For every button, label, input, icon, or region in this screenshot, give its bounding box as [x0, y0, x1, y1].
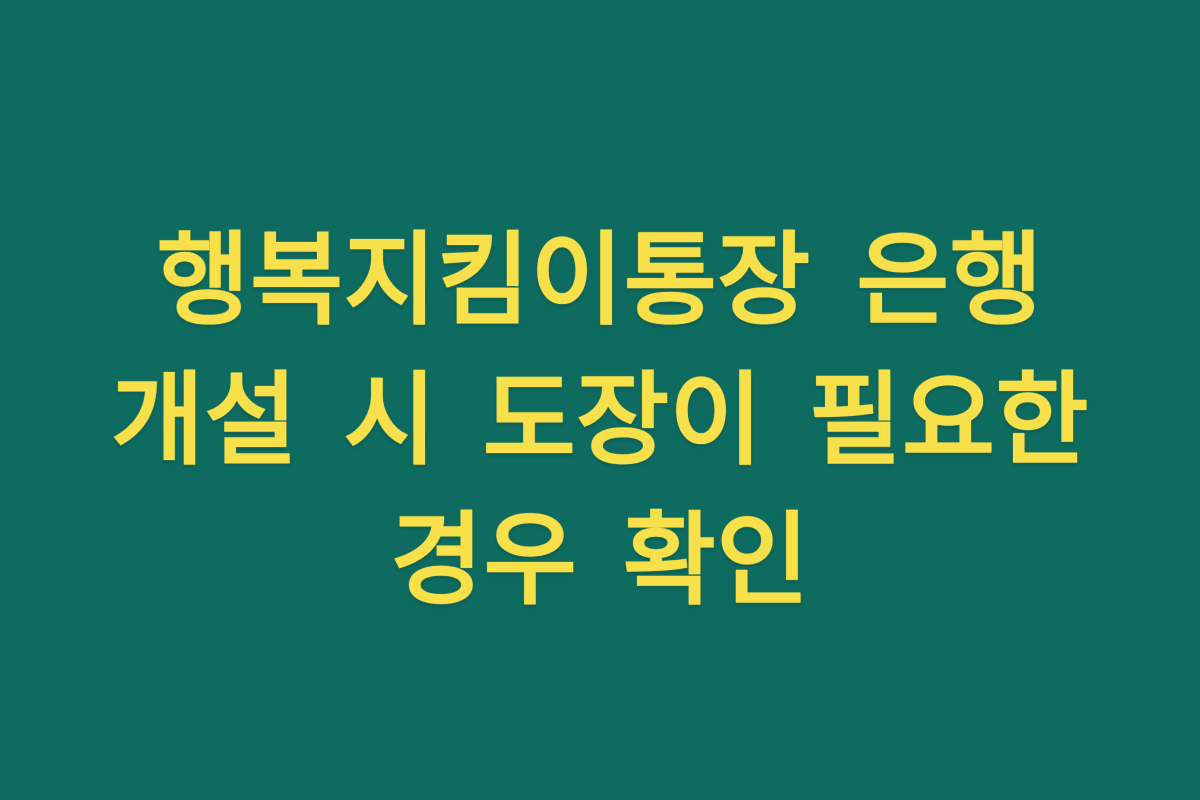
poster-canvas: 행복지킴이통장 은행 개설 시 도장이 필요한 경우 확인: [0, 0, 1200, 800]
headline-block: 행복지킴이통장 은행 개설 시 도장이 필요한 경우 확인: [95, 210, 1105, 630]
poster-headline: 행복지킴이통장 은행 개설 시 도장이 필요한 경우 확인: [95, 210, 1105, 630]
